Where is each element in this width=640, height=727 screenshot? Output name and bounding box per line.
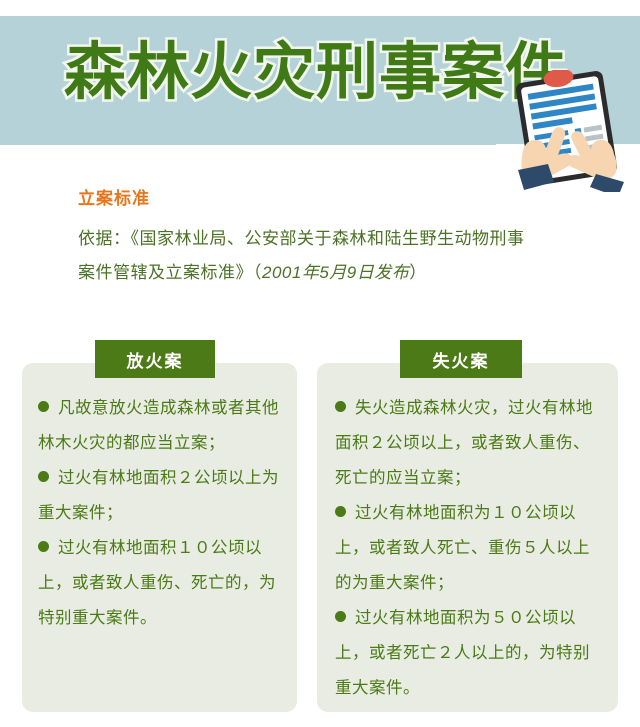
bullet-dot-icon [335,401,346,412]
bullet-dot-icon [335,611,346,622]
bullet-dot-icon [38,541,49,552]
list-item-text: 过火有林地面积１０公顷以上，或者致人重伤、死亡的，为特别重大案件。 [38,539,276,627]
list-item: 过火有林地面积２公顷以上为重大案件； [38,461,281,531]
list-item: 过火有林地面积为１０公顷以上，或者致人死亡、重伤５人以上的为重大案件； [335,496,600,601]
bullet-dot-icon [38,471,49,482]
card-tab-arson-case: 放火案 [95,340,215,378]
criteria-basis-text: 依据：《国家林业局、公安部关于森林和陆生野生动物刑事 案件管辖及立案标准》（20… [78,222,548,290]
list-item-text: 过火有林地面积为５０公顷以上，或者死亡２人以上的，为特别重大案件。 [335,609,590,697]
criteria-heading: 立案标准 [78,184,150,209]
page-title: 森林火灾刑事案件 [64,33,568,111]
list-item-text: 过火有林地面积为１０公顷以上，或者致人死亡、重伤５人以上的为重大案件； [335,504,590,592]
list-item: 凡故意放火造成森林或者其他林木火灾的都应当立案； [38,391,281,461]
bullet-dot-icon [335,506,346,517]
list-item: 过火有林地面积为５０公顷以上，或者死亡２人以上的，为特别重大案件。 [335,601,600,706]
list-item-text: 凡故意放火造成森林或者其他林木火灾的都应当立案； [38,399,279,452]
list-item: 过火有林地面积１０公顷以上，或者致人重伤、死亡的，为特别重大案件。 [38,531,281,636]
list-item: 失火造成森林火灾，过火有林地面积２公顷以上，或者致人重伤、死亡的应当立案； [335,391,600,496]
card-tab-negligent-fire-case: 失火案 [400,340,522,378]
criteria-basis-date: 2001年5月9日发布 [262,263,409,282]
list-item-text: 过火有林地面积２公顷以上为重大案件； [38,469,279,522]
card-negligent-body: 失火造成森林火灾，过火有林地面积２公顷以上，或者致人重伤、死亡的应当立案； 过火… [317,391,618,706]
bullet-dot-icon [38,401,49,412]
infographic-page: 森林火灾刑事案件 [0,0,640,727]
card-arson-case: 凡故意放火造成森林或者其他林木火灾的都应当立案； 过火有林地面积２公顷以上为重大… [22,363,297,712]
hands-holding-clipboard-illustration [496,70,640,192]
criteria-basis-line2-post: ） [409,263,427,282]
list-item-text: 失火造成森林火灾，过火有林地面积２公顷以上，或者致人重伤、死亡的应当立案； [335,399,593,487]
criteria-basis-line2-pre: 案件管辖及立案标准》（ [78,263,262,282]
criteria-basis-line1: 依据：《国家林业局、公安部关于森林和陆生野生动物刑事 [78,229,525,248]
card-arson-body: 凡故意放火造成森林或者其他林木火灾的都应当立案； 过火有林地面积２公顷以上为重大… [22,391,297,636]
card-negligent-fire-case: 失火造成森林火灾，过火有林地面积２公顷以上，或者致人重伤、死亡的应当立案； 过火… [317,363,618,712]
